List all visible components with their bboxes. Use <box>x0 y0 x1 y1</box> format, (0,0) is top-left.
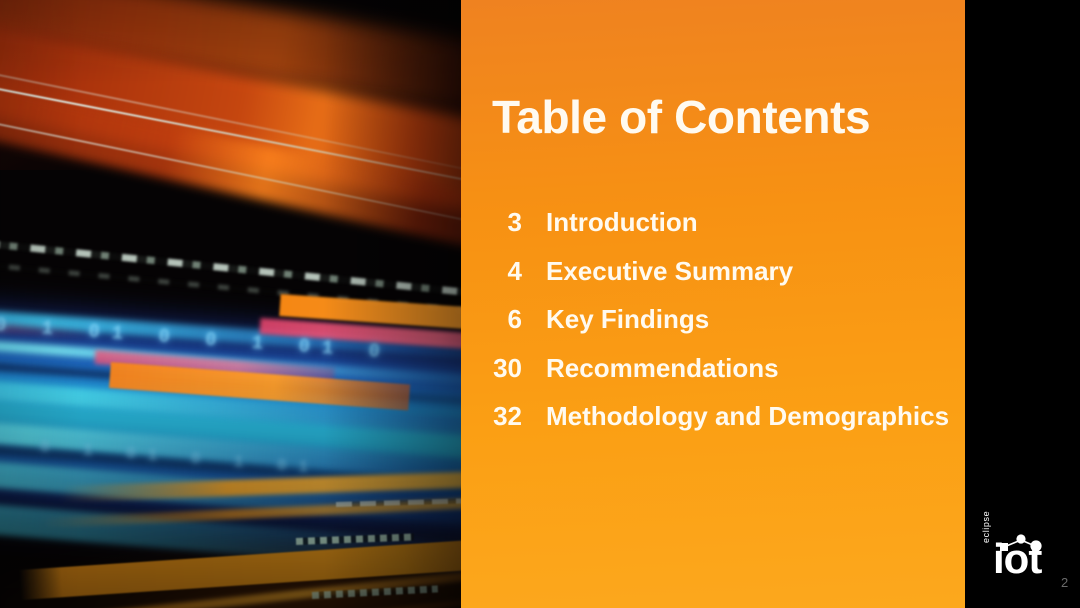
toc-entry-introduction[interactable]: 3 Introduction <box>461 207 965 256</box>
hero-artwork-image: 0 1 01 0 0 1 01 0 0 1 01 0 1 01 <box>0 0 462 608</box>
toc-page-number: 4 <box>461 256 522 287</box>
toc-entry-key-findings[interactable]: 6 Key Findings <box>461 304 965 353</box>
logo-iot-wordmark: iot <box>993 538 1041 580</box>
toc-page-number: 32 <box>461 401 522 432</box>
toc-page-number: 6 <box>461 304 522 335</box>
toc-entry-label: Introduction <box>546 207 698 238</box>
artwork-stage: 0 1 01 0 0 1 01 0 0 1 01 0 1 01 <box>0 0 462 608</box>
toc-entry-methodology-and-demographics[interactable]: 32 Methodology and Demographics <box>461 401 965 450</box>
toc-entry-label: Executive Summary <box>546 256 793 287</box>
eclipse-iot-logo: eclipse iot <box>979 533 1065 591</box>
slide-page-number: 2 <box>1061 575 1068 590</box>
toc-entry-label: Methodology and Demographics <box>546 401 949 432</box>
page-title: Table of Contents <box>492 94 870 140</box>
toc-entry-label: Recommendations <box>546 353 779 384</box>
toc-entry-executive-summary[interactable]: 4 Executive Summary <box>461 256 965 305</box>
table-of-contents-list: 3 Introduction 4 Executive Summary 6 Key… <box>461 207 965 450</box>
slide-table-of-contents: 0 1 01 0 0 1 01 0 0 1 01 0 1 01 Table of… <box>0 0 1080 608</box>
content-panel: Table of Contents 3 Introduction 4 Execu… <box>461 0 965 608</box>
logo-eclipse-wordmark: eclipse <box>981 511 991 543</box>
toc-page-number: 30 <box>461 353 522 384</box>
toc-entry-recommendations[interactable]: 30 Recommendations <box>461 353 965 402</box>
toc-entry-label: Key Findings <box>546 304 709 335</box>
toc-page-number: 3 <box>461 207 522 238</box>
